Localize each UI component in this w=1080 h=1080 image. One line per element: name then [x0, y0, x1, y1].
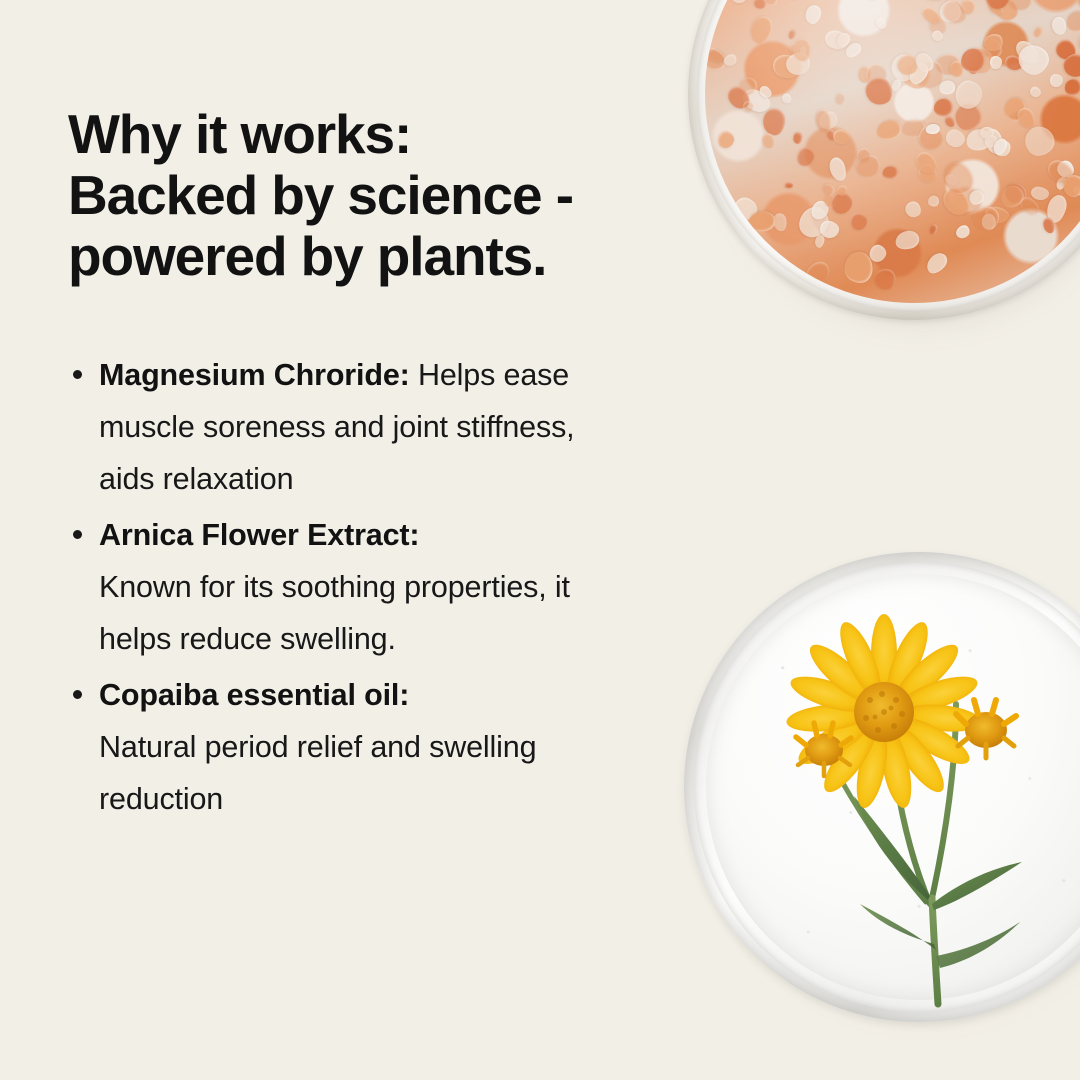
salt-crystal [902, 199, 924, 221]
salt-crystal [1072, 0, 1080, 10]
salt-crystal [742, 101, 754, 114]
salt-crystal [748, 14, 775, 46]
benefits-list: Magnesium Chroride: Helps ease muscle so… [68, 349, 596, 825]
salt-crystal [1050, 74, 1064, 87]
salt-crystal [980, 126, 994, 138]
salt-crystal [1051, 16, 1068, 36]
product-benefits-poster: Why it works: Backed by science - powere… [0, 0, 1080, 1080]
salt-crystal [793, 132, 804, 145]
benefit-term: Arnica Flower Extract: [99, 518, 419, 552]
salt-crystal [715, 129, 735, 150]
salt-crystal [763, 108, 786, 136]
salt-crystal [730, 0, 749, 4]
salt-crystal [1028, 85, 1042, 99]
salt-crystal [929, 223, 939, 236]
benefit-item-arnica-flower-extract: Arnica Flower Extract:Known for its soot… [68, 509, 596, 665]
salt-crystal [834, 92, 847, 106]
salt-crystal [831, 128, 851, 147]
salt-crystal [893, 228, 921, 252]
bullet-dot-icon [73, 690, 82, 699]
salt-crystal [863, 0, 881, 3]
salt-crystal [1063, 77, 1080, 97]
bullet-dot-icon [73, 530, 82, 539]
benefit-term: Copaiba essential oil: [99, 678, 409, 712]
benefit-description: Natural period relief and swelling reduc… [99, 730, 536, 816]
text-column: Why it works: Backed by science - powere… [68, 104, 658, 829]
page-title: Why it works: Backed by science - powere… [68, 104, 658, 287]
salt-crystal [920, 0, 947, 1]
salt-crystal [873, 268, 897, 292]
salt-crystal [934, 99, 953, 117]
salt-crystal [794, 144, 816, 167]
salt-crystal [849, 212, 869, 232]
salt-crystal [827, 155, 848, 183]
salt-crystal [765, 0, 779, 7]
salt-crystal [781, 0, 806, 1]
salt-dish-image: pink-himalayan-salt-in-glass-dish [688, 0, 1080, 320]
salt-crystal [784, 181, 794, 188]
benefit-item-magnesium-chloride: Magnesium Chroride: Helps ease muscle so… [68, 349, 596, 505]
salt-crystal [875, 118, 904, 143]
salt-crystal [1032, 26, 1045, 40]
photo-column: pink-himalayan-salt-in-glass-dish [680, 0, 1080, 1080]
salt-crystal [780, 92, 792, 105]
salt-crystal [927, 196, 939, 207]
salt-crystal [923, 249, 951, 277]
salt-crystal [972, 205, 1000, 231]
arnica-flower-illustration [684, 552, 1080, 1022]
salt-crystal [1064, 9, 1080, 35]
salt-crystal [794, 38, 812, 62]
arnica-dish-image: arnica-flower-on-white-salt-in-glass-dis… [684, 552, 1080, 1022]
salt-crystal [990, 56, 1002, 70]
salt-crystal [881, 165, 898, 180]
salt-crystal [953, 78, 986, 112]
salt-crystal [960, 49, 984, 73]
salt-crystal [954, 223, 972, 241]
salt-crystal [786, 28, 797, 40]
benefit-term: Magnesium Chroride: [99, 358, 410, 392]
benefit-item-copaiba-essential-oil: Copaiba essential oil:Natural period rel… [68, 669, 596, 825]
bullet-dot-icon [73, 370, 82, 379]
benefit-description: Known for its soothing properties, it he… [99, 570, 570, 656]
salt-crystal [874, 16, 889, 31]
salt-crystal [804, 4, 823, 26]
